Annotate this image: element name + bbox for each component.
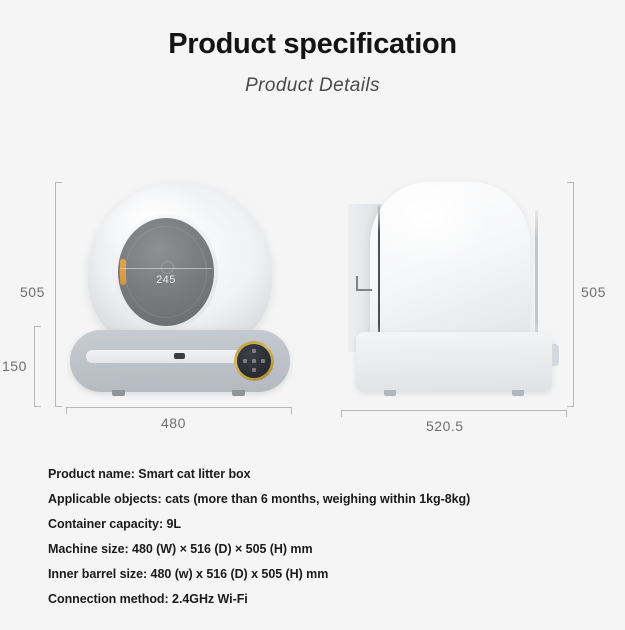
control-panel-face bbox=[237, 344, 271, 378]
product-dimension-diagram: 245 505 150 480 bbox=[0, 160, 625, 450]
front-width-bracket-line bbox=[66, 407, 292, 408]
front-width-label: 480 bbox=[161, 415, 186, 431]
spec-line-inner-barrel-size: Inner barrel size: 480 (w) x 516 (D) x 5… bbox=[48, 562, 608, 587]
rear-panel-seam bbox=[378, 206, 380, 352]
drawer-slot bbox=[86, 350, 254, 363]
front-height-bracket-line bbox=[55, 182, 56, 407]
spec-line-connection-method: Connection method: 2.4GHz Wi-Fi bbox=[48, 587, 608, 612]
side-front-edge bbox=[535, 210, 538, 348]
control-button-icon bbox=[243, 359, 247, 363]
spec-line-product-name: Product name: Smart cat litter box bbox=[48, 462, 608, 487]
spec-line-applicable-objects: Applicable objects: cats (more than 6 mo… bbox=[48, 487, 608, 512]
front-base-height-bracket-line bbox=[34, 326, 35, 407]
rear-hinge-bracket-icon bbox=[356, 276, 372, 291]
front-base-height-label: 150 bbox=[2, 358, 27, 374]
side-height-bracket-line bbox=[573, 182, 574, 407]
control-button-icon bbox=[252, 349, 256, 353]
control-button-icon bbox=[252, 368, 256, 372]
base-unit bbox=[70, 330, 290, 392]
side-depth-label: 520.5 bbox=[426, 418, 464, 434]
front-height-bracket-tick-top bbox=[55, 182, 62, 183]
side-depth-tick-left bbox=[341, 410, 342, 417]
spec-line-machine-size: Machine size: 480 (W) × 516 (D) × 505 (H… bbox=[48, 537, 608, 562]
side-base-unit bbox=[356, 332, 552, 392]
side-base-nub bbox=[552, 344, 559, 366]
side-height-tick-top bbox=[567, 182, 574, 183]
side-depth-bracket-line bbox=[341, 410, 567, 411]
front-width-tick-right bbox=[291, 407, 292, 414]
inner-diameter-label: 245 bbox=[118, 274, 214, 286]
side-dome-shell bbox=[370, 182, 530, 354]
front-foot-right bbox=[232, 390, 245, 396]
side-view-illustration bbox=[348, 182, 560, 397]
front-view-illustration: 245 bbox=[70, 182, 290, 397]
control-button-icon bbox=[252, 359, 256, 363]
front-foot-left bbox=[112, 390, 125, 396]
specification-list: Product name: Smart cat litter box Appli… bbox=[48, 462, 608, 612]
front-base-height-tick-bottom bbox=[34, 406, 41, 407]
control-button-icon bbox=[261, 359, 265, 363]
dome-opening: 245 bbox=[118, 218, 214, 326]
page-title: Product specification bbox=[0, 0, 625, 61]
side-height-tick-bottom bbox=[567, 406, 574, 407]
side-foot-left bbox=[384, 390, 396, 396]
drawer-handle bbox=[174, 353, 185, 359]
front-height-bracket-tick-bottom bbox=[55, 406, 62, 407]
page-header: Product specification Product Details bbox=[0, 0, 625, 97]
side-foot-right bbox=[512, 390, 524, 396]
side-depth-tick-right bbox=[566, 410, 567, 417]
front-width-tick-left bbox=[66, 407, 67, 414]
control-panel-dial bbox=[234, 341, 274, 381]
front-height-label: 505 bbox=[20, 284, 45, 300]
side-height-label: 505 bbox=[581, 284, 606, 300]
spec-line-container-capacity: Container capacity: 9L bbox=[48, 512, 608, 537]
page-subtitle: Product Details bbox=[0, 61, 625, 97]
front-base-height-tick-top bbox=[34, 326, 41, 327]
